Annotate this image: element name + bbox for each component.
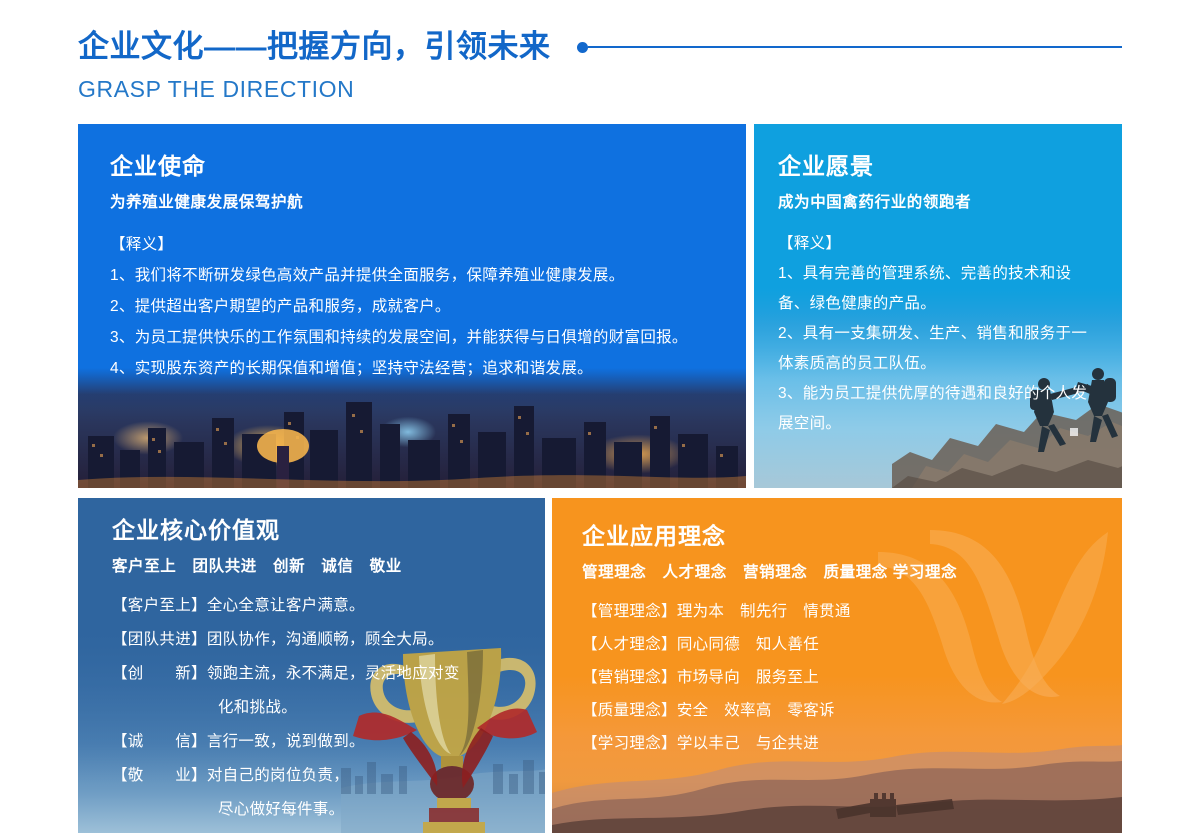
ideas-entry-1: 【管理理念】理为本 制先行 情贯通 (582, 595, 1102, 628)
ideas-entry-1-text: 理为本 制先行 情贯通 (677, 603, 851, 620)
ideas-entry-3: 【营销理念】市场导向 服务至上 (582, 661, 1102, 694)
mission-line-2: 2、提供超出客户期望的产品和服务，成就客户。 (110, 291, 716, 322)
mission-line-4: 4、实现股东资产的长期保值和增值；坚持守法经营；追求和谐发展。 (110, 353, 716, 384)
card-application-ideas: 企业应用理念 管理理念 人才理念 营销理念 质量理念 学习理念 【管理理念】理为… (552, 498, 1122, 833)
values-entry-2-key: 【团队共进】 (112, 631, 207, 648)
ideas-entry-5: 【学习理念】学以丰己 与企共进 (582, 727, 1102, 760)
corporate-culture-page: 企业文化——把握方向，引领未来 GRASP THE DIRECTION (0, 0, 1200, 833)
header-title-row: 企业文化——把握方向，引领未来 (78, 26, 1122, 68)
ideas-entry-3-key: 【营销理念】 (582, 669, 677, 686)
ideas-entry-5-key: 【学习理念】 (582, 735, 677, 752)
mission-line-3: 3、为员工提供快乐的工作氛围和持续的发展空间，并能获得与日俱增的财富回报。 (110, 322, 735, 353)
vision-definition-label: 【释义】 (778, 229, 1100, 259)
values-body: 【客户至上】全心全意让客户满意。 【团队共进】团队协作，沟通顺畅，顾全大局。 【… (112, 589, 525, 827)
values-entry-4: 【诚 信】言行一致，说到做到。 (112, 725, 525, 759)
values-entry-5: 【敬 业】对自己的岗位负责， (112, 759, 525, 793)
values-entry-4-text: 言行一致，说到做到。 (207, 733, 365, 750)
vision-line-3: 3、能为员工提供优厚的待遇和良好的个人发展空间。 (778, 379, 1100, 439)
mission-line-1: 1、我们将不断研发绿色高效产品并提供全面服务，保障养殖业健康发展。 (110, 260, 716, 291)
ideas-entry-5-text: 学以丰己 与企共进 (677, 735, 819, 752)
values-entry-5-key: 【敬 业】 (112, 767, 207, 784)
vision-line-2: 2、具有一支集研发、生产、销售和服务于一体素质高的员工队伍。 (778, 319, 1100, 379)
ideas-entry-4-key: 【质量理念】 (582, 702, 677, 719)
ideas-entry-2-text: 同心同德 知人善任 (677, 636, 819, 653)
vision-line-1: 1、具有完善的管理系统、完善的技术和设备、绿色健康的产品。 (778, 259, 1100, 319)
ideas-entry-4-text: 安全 效率高 零客诉 (677, 702, 835, 719)
values-entry-4-key: 【诚 信】 (112, 733, 207, 750)
values-entry-3-text: 领跑主流，永不满足，灵活地应对变 (207, 665, 460, 682)
page-subtitle: GRASP THE DIRECTION (78, 76, 1122, 103)
values-entry-3-cont: 化和挑战。 (112, 691, 525, 725)
page-header: 企业文化——把握方向，引领未来 GRASP THE DIRECTION (78, 26, 1122, 112)
ideas-entry-2-key: 【人才理念】 (582, 636, 677, 653)
values-entry-5-cont: 尽心做好每件事。 (112, 793, 525, 827)
ideas-entry-2: 【人才理念】同心同德 知人善任 (582, 628, 1102, 661)
ideas-slogan: 管理理念 人才理念 营销理念 质量理念 学习理念 (582, 563, 1102, 583)
vision-content: 企业愿景 成为中国禽药行业的领跑者 【释义】 1、具有完善的管理系统、完善的技术… (754, 124, 1122, 439)
values-entry-3-text2: 化和挑战。 (218, 699, 297, 716)
ideas-entry-3-text: 市场导向 服务至上 (677, 669, 819, 686)
values-entry-2: 【团队共进】团队协作，沟通顺畅，顾全大局。 (112, 623, 525, 657)
ideas-body: 【管理理念】理为本 制先行 情贯通 【人才理念】同心同德 知人善任 【营销理念】… (582, 595, 1102, 760)
skyline-buildings-graphic (78, 384, 746, 488)
ideas-title: 企业应用理念 (582, 522, 1102, 551)
values-entry-5-text2: 尽心做好每件事。 (218, 801, 344, 818)
vision-slogan: 成为中国禽药行业的领跑者 (778, 193, 1100, 213)
values-content: 企业核心价值观 客户至上 团队共进 创新 诚信 敬业 【客户至上】全心全意让客户… (78, 498, 545, 827)
card-core-values: 企业核心价值观 客户至上 团队共进 创新 诚信 敬业 【客户至上】全心全意让客户… (78, 498, 545, 833)
mission-content: 企业使命 为养殖业健康发展保驾护航 【释义】 1、我们将不断研发绿色高效产品并提… (78, 124, 746, 384)
values-entry-3: 【创 新】领跑主流，永不满足，灵活地应对变 (112, 657, 525, 691)
horizontal-rule (588, 46, 1123, 48)
ideas-content: 企业应用理念 管理理念 人才理念 营销理念 质量理念 学习理念 【管理理念】理为… (552, 498, 1122, 760)
values-entry-3-key: 【创 新】 (112, 665, 207, 682)
card-corporate-vision: 企业愿景 成为中国禽药行业的领跑者 【释义】 1、具有完善的管理系统、完善的技术… (754, 124, 1122, 488)
ideas-entry-1-key: 【管理理念】 (582, 603, 677, 620)
bullet-dot-icon (577, 42, 588, 53)
mission-title: 企业使命 (110, 152, 716, 181)
header-rule (577, 26, 1123, 68)
page-title: 企业文化——把握方向，引领未来 (78, 26, 551, 68)
values-entry-1-key: 【客户至上】 (112, 597, 207, 614)
values-title: 企业核心价值观 (112, 516, 525, 545)
vision-body: 【释义】 1、具有完善的管理系统、完善的技术和设备、绿色健康的产品。 2、具有一… (778, 229, 1100, 439)
ideas-entry-4: 【质量理念】安全 效率高 零客诉 (582, 694, 1102, 727)
mission-body: 【释义】 1、我们将不断研发绿色高效产品并提供全面服务，保障养殖业健康发展。 2… (110, 229, 716, 384)
card-corporate-mission: 企业使命 为养殖业健康发展保驾护航 【释义】 1、我们将不断研发绿色高效产品并提… (78, 124, 746, 488)
vision-title: 企业愿景 (778, 152, 1100, 181)
values-entry-5-text: 对自己的岗位负责， (207, 767, 349, 784)
values-entry-1: 【客户至上】全心全意让客户满意。 (112, 589, 525, 623)
values-entry-1-text: 全心全意让客户满意。 (207, 597, 365, 614)
mission-slogan: 为养殖业健康发展保驾护航 (110, 193, 716, 213)
mission-definition-label: 【释义】 (110, 229, 716, 260)
values-slogan: 客户至上 团队共进 创新 诚信 敬业 (112, 557, 525, 577)
values-entry-2-text: 团队协作，沟通顺畅，顾全大局。 (207, 631, 444, 648)
